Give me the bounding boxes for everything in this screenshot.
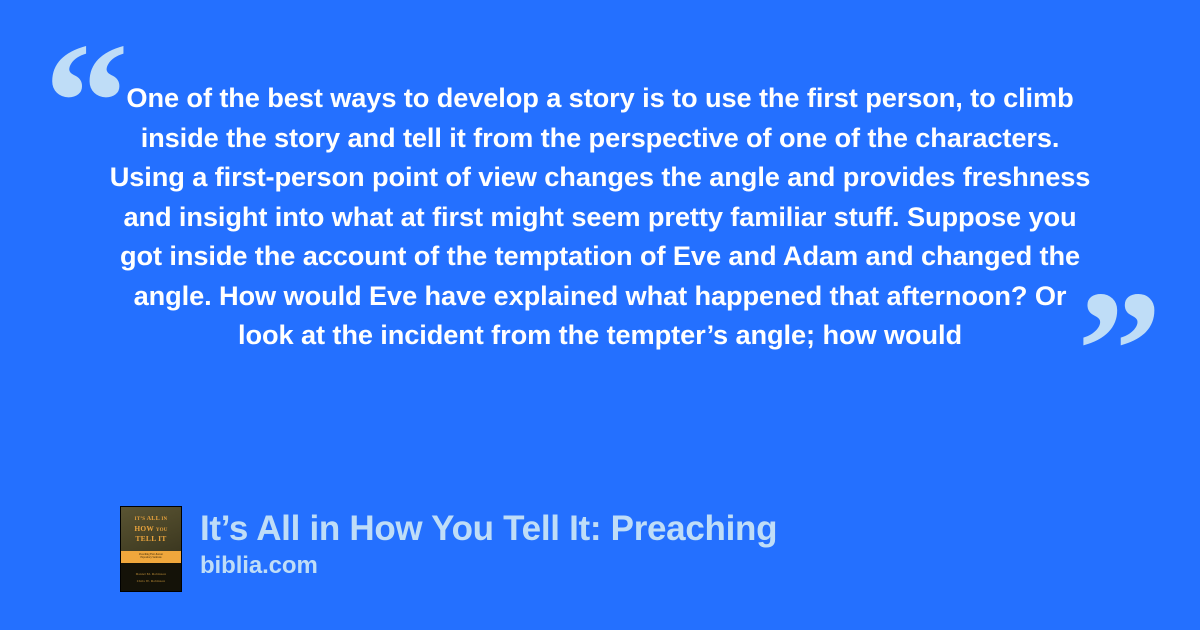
attribution-footer: IT’S ALL IN HOW YOU TELL IT Preaching Fi… [120, 506, 777, 592]
book-cover-author-1: Daniel M. Robinson [136, 572, 166, 576]
book-cover-word-how: HOW [134, 524, 153, 533]
book-cover-word-all: ALL [147, 515, 160, 522]
book-cover-line-3: TELL IT [135, 535, 166, 543]
book-cover-word-its: IT’S [135, 517, 146, 522]
book-cover-subtitle-2: Expository Sermons [140, 557, 161, 560]
attribution-text: It’s All in How You Tell It: Preaching b… [200, 506, 777, 579]
quote-text: One of the best ways to develop a story … [108, 78, 1092, 355]
quote-block: One of the best ways to develop a story … [108, 78, 1092, 355]
quote-card: { "background_color": "#2470FF", "accent… [0, 0, 1200, 630]
book-cover-word-you: YOU [156, 528, 168, 533]
book-cover-subtitle-band: Preaching First-Person Expository Sermon… [121, 551, 181, 564]
book-cover-thumbnail[interactable]: IT’S ALL IN HOW YOU TELL IT Preaching Fi… [120, 506, 182, 592]
book-cover-line-2: HOW YOU [134, 525, 167, 533]
book-cover-line-1: IT’S ALL IN [135, 516, 168, 522]
book-cover-word-in: IN [161, 517, 167, 522]
book-cover-author-area: Daniel M. Robinson Chris W. Robinson [121, 563, 181, 591]
book-cover-author-2: Chris W. Robinson [137, 579, 165, 583]
site-name[interactable]: biblia.com [200, 553, 777, 579]
book-title[interactable]: It’s All in How You Tell It: Preaching [200, 510, 777, 548]
book-cover-title-area: IT’S ALL IN HOW YOU TELL IT [121, 507, 181, 551]
